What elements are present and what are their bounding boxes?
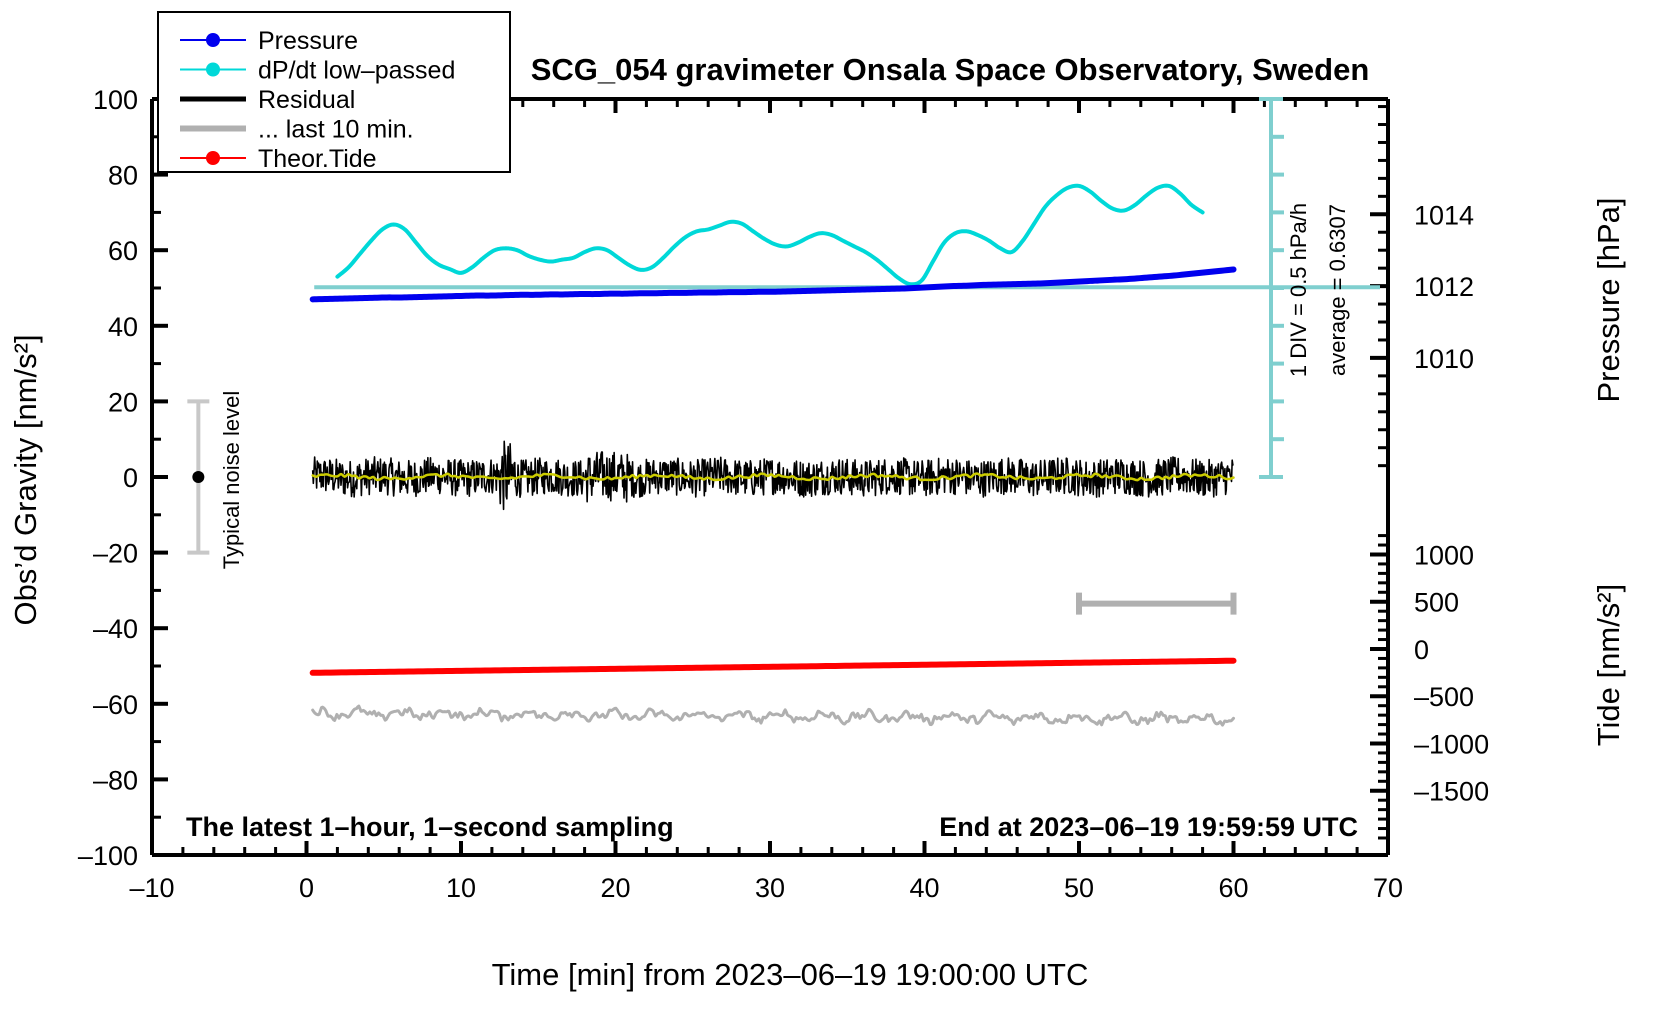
pressure-axis-tick-label: 1010	[1414, 344, 1474, 374]
y-tick-label: 100	[93, 85, 138, 115]
noise-level-center-dot	[192, 471, 204, 483]
plot-canvas: –10010203040506070 –100–80–60–40–2002040…	[0, 0, 1660, 1020]
x-tick-label: –10	[129, 873, 174, 903]
x-tick-label: 30	[755, 873, 785, 903]
legend-item-label[interactable]: Residual	[258, 86, 355, 114]
tide-axis-tick-label: 0	[1414, 635, 1429, 665]
y-tick-label: –100	[78, 841, 138, 871]
legend[interactable]: PressuredP/dt low–passedResidual... last…	[158, 12, 510, 173]
x-tick-label: 60	[1218, 873, 1248, 903]
y-tick-label: 60	[108, 236, 138, 266]
dpdt-average-annotation: average = 0.6307	[1325, 204, 1350, 376]
legend-item-label[interactable]: dP/dt low–passed	[258, 57, 455, 85]
x-tick-label: 70	[1373, 873, 1403, 903]
y-tick-label: 40	[108, 312, 138, 342]
tide-axis-tick-label: –1500	[1414, 777, 1489, 807]
y-axis-label: Obs’d Gravity [nm/s²]	[8, 334, 43, 625]
y-tick-label: 0	[123, 463, 138, 493]
tide-axis-tick-label: 500	[1414, 588, 1459, 618]
tide-axis-tick-label: –1000	[1414, 729, 1489, 759]
footer-left-text: The latest 1–hour, 1–second sampling	[186, 812, 674, 842]
right-axis-label-tide: Tide [nm/s²]	[1591, 584, 1626, 747]
footer-right-text: End at 2023–06–19 19:59:59 UTC	[939, 812, 1358, 842]
y-tick-label: 20	[108, 387, 138, 417]
legend-marker	[206, 151, 220, 165]
y-tick-label: –40	[93, 614, 138, 644]
legend-item-label[interactable]: Theor.Tide	[258, 145, 377, 173]
x-axis-label: Time [min] from 2023–06–19 19:00:00 UTC	[492, 957, 1089, 992]
legend-marker	[206, 63, 220, 77]
legend-marker	[206, 33, 220, 47]
x-tick-label: 0	[299, 873, 314, 903]
x-tick-label: 40	[909, 873, 939, 903]
pressure-axis-tick-label: 1014	[1414, 200, 1474, 230]
legend-item-label[interactable]: ... last 10 min.	[258, 116, 414, 144]
tide-axis-tick-label: 1000	[1414, 540, 1474, 570]
y-tick-label: –60	[93, 690, 138, 720]
x-tick-label: 50	[1064, 873, 1094, 903]
right-axis-label-pressure: Pressure [hPa]	[1591, 197, 1626, 402]
y-tick-label: –80	[93, 765, 138, 795]
y-tick-label: –20	[93, 539, 138, 569]
pressure-axis-tick-label: 1012	[1414, 272, 1474, 302]
gravimeter-timeseries-chart: –10010203040506070 –100–80–60–40–2002040…	[0, 0, 1660, 1020]
y-tick-label: 80	[108, 161, 138, 191]
noise-level-annotation: Typical noise level	[219, 391, 244, 570]
x-tick-label: 20	[600, 873, 630, 903]
legend-item-label[interactable]: Pressure	[258, 27, 358, 55]
x-tick-label: 10	[446, 873, 476, 903]
chart-title: SCG_054 gravimeter Onsala Space Observat…	[531, 52, 1370, 87]
tide-axis-tick-label: –500	[1414, 682, 1474, 712]
dpdt-division-annotation: 1 DIV = 0.5 hPa/h	[1286, 203, 1311, 377]
